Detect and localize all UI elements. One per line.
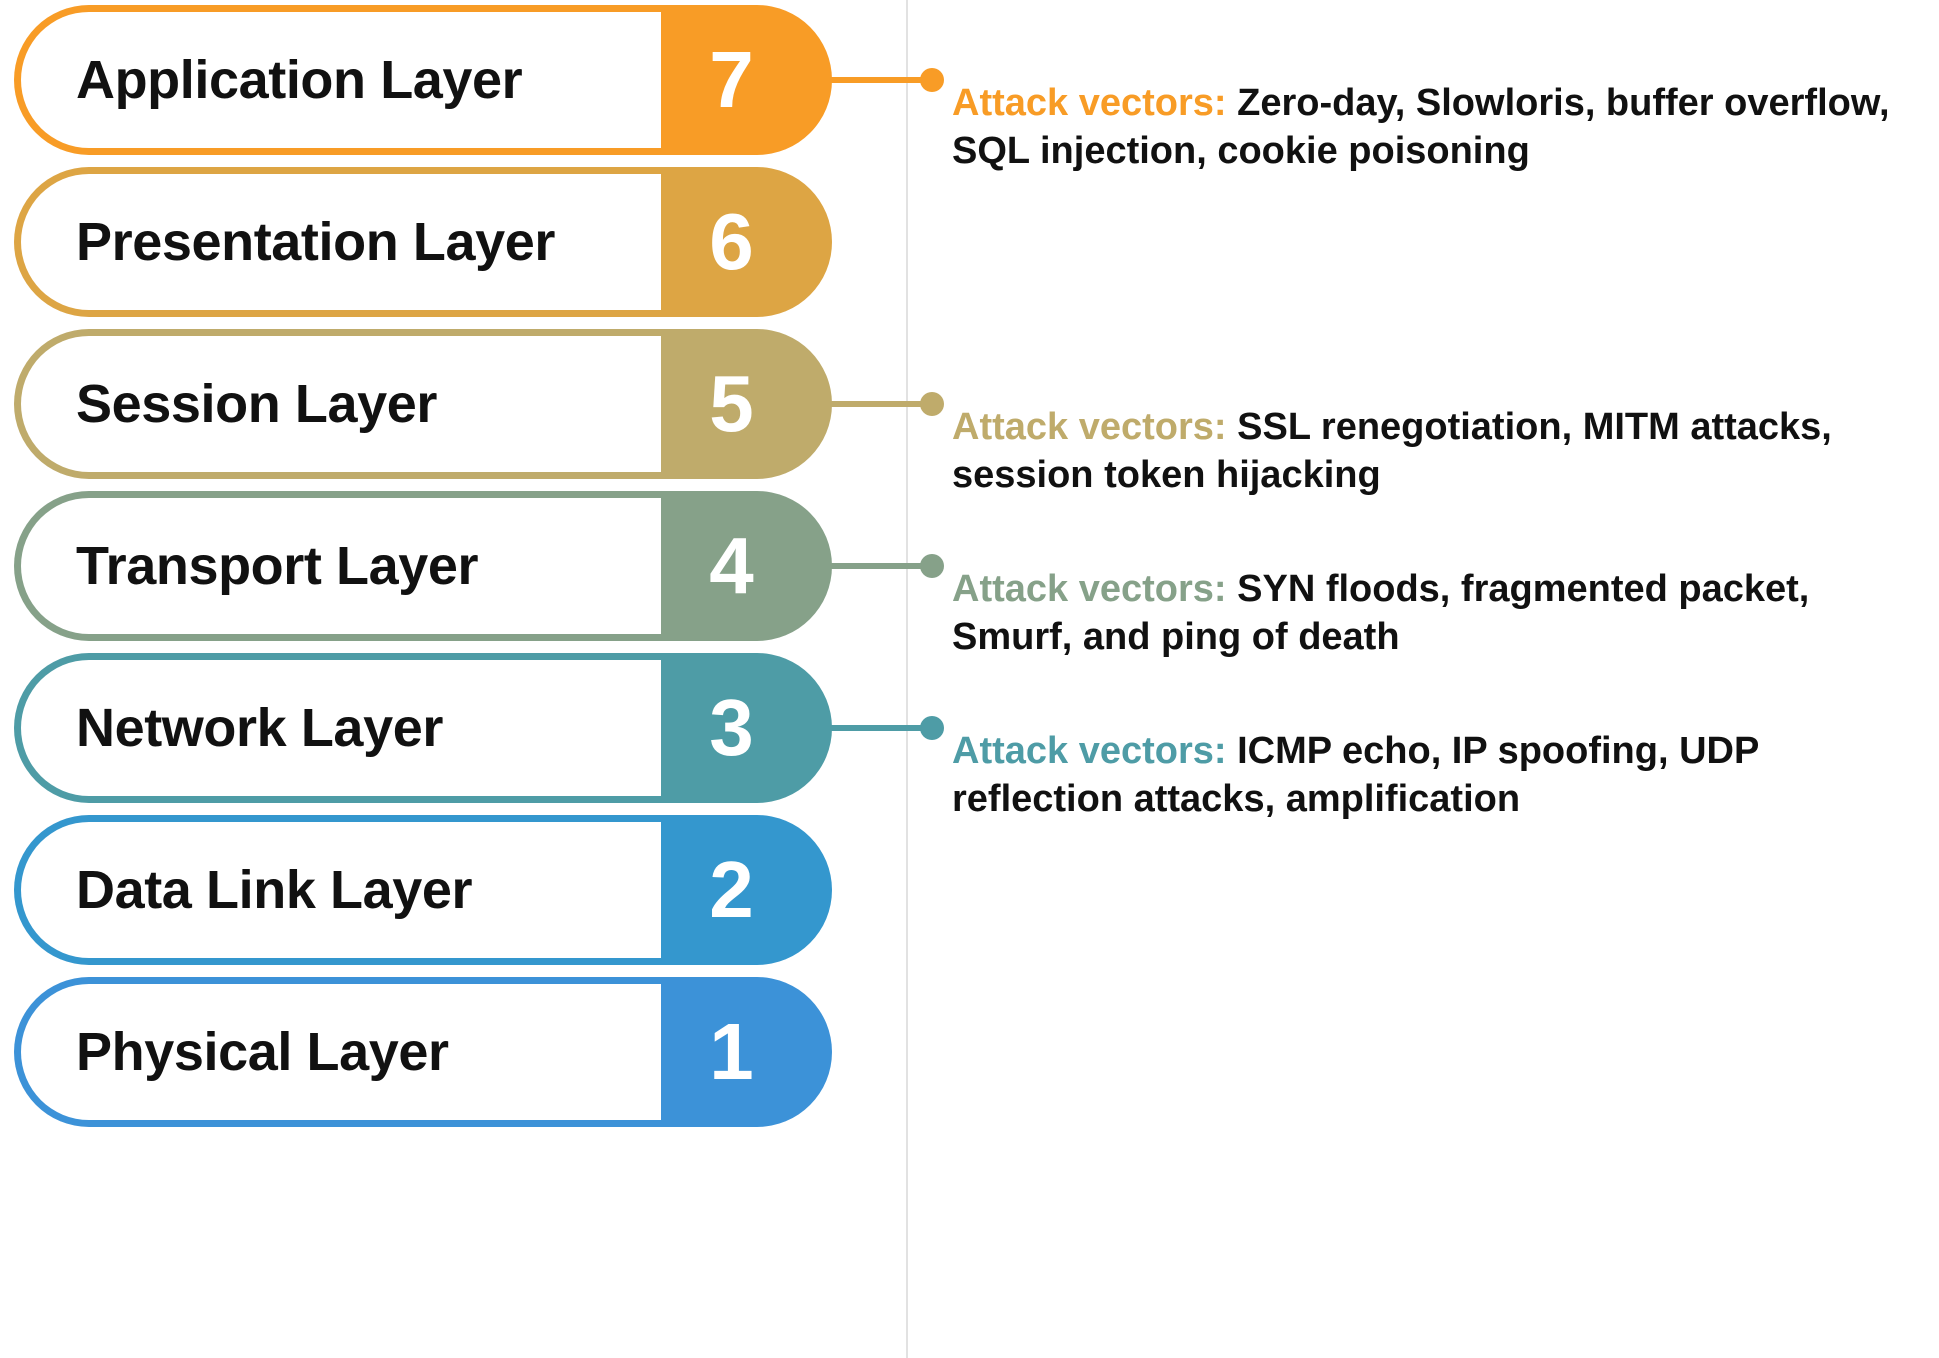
attack-vectors-annotation-7: Attack vectors: Zero-day, Slowloris, buf…: [952, 80, 1938, 176]
osi-layer-pill-4[interactable]: Transport Layer4: [14, 491, 832, 641]
layer-number-panel: 4: [660, 491, 831, 641]
layer-name: Data Link Layer: [76, 859, 472, 921]
connector-line-4: [822, 563, 932, 569]
layer-number-panel: 1: [660, 977, 831, 1127]
layer-number: 5: [709, 364, 754, 444]
attack-vectors-annotation-3: Attack vectors: ICMP echo, IP spoofing, …: [952, 728, 1938, 824]
layer-number: 7: [709, 40, 754, 120]
osi-layer-pill-2[interactable]: Data Link Layer2: [14, 815, 832, 965]
layer-label-panel: Presentation Layer: [21, 174, 661, 310]
layer-name: Session Layer: [76, 373, 437, 435]
layer-number-panel: 3: [660, 653, 831, 803]
vertical-divider: [906, 0, 908, 1358]
osi-layer-pill-1[interactable]: Physical Layer1: [14, 977, 832, 1127]
connector-line-7: [822, 77, 932, 83]
layer-name: Physical Layer: [76, 1021, 449, 1083]
attack-vectors-label: Attack vectors:: [952, 82, 1227, 124]
connector-line-3: [822, 725, 932, 731]
layer-label-panel: Physical Layer: [21, 984, 661, 1120]
layer-number: 4: [709, 526, 754, 606]
layer-label-panel: Application Layer: [21, 12, 661, 148]
attack-vectors-label: Attack vectors:: [952, 406, 1227, 448]
attack-vectors-annotation-5: Attack vectors: SSL renegotiation, MITM …: [952, 404, 1938, 500]
layer-label-panel: Data Link Layer: [21, 822, 661, 958]
connector-dot-3: [920, 716, 944, 740]
layer-number: 3: [709, 688, 754, 768]
layer-name: Transport Layer: [76, 535, 478, 597]
osi-layer-pill-7[interactable]: Application Layer7: [14, 5, 832, 155]
layer-number: 2: [709, 850, 754, 930]
layer-number-panel: 6: [660, 167, 831, 317]
layer-number: 6: [709, 202, 754, 282]
attack-vectors-annotation-4: Attack vectors: SYN floods, fragmented p…: [952, 566, 1938, 662]
layer-number-panel: 5: [660, 329, 831, 479]
layer-name: Application Layer: [76, 49, 522, 111]
connector-dot-4: [920, 554, 944, 578]
layer-number-panel: 2: [660, 815, 831, 965]
layer-number: 1: [709, 1012, 754, 1092]
osi-layer-pill-3[interactable]: Network Layer3: [14, 653, 832, 803]
layer-number-panel: 7: [660, 5, 831, 155]
layer-label-panel: Network Layer: [21, 660, 661, 796]
layer-label-panel: Session Layer: [21, 336, 661, 472]
layer-name: Presentation Layer: [76, 211, 555, 273]
connector-dot-5: [920, 392, 944, 416]
osi-layer-pill-6[interactable]: Presentation Layer6: [14, 167, 832, 317]
connector-dot-7: [920, 68, 944, 92]
layer-label-panel: Transport Layer: [21, 498, 661, 634]
osi-diagram: Application Layer7Attack vectors: Zero-d…: [0, 0, 1939, 1358]
osi-layer-pill-5[interactable]: Session Layer5: [14, 329, 832, 479]
attack-vectors-label: Attack vectors:: [952, 568, 1227, 610]
attack-vectors-label: Attack vectors:: [952, 730, 1227, 772]
layer-name: Network Layer: [76, 697, 443, 759]
connector-line-5: [822, 401, 932, 407]
